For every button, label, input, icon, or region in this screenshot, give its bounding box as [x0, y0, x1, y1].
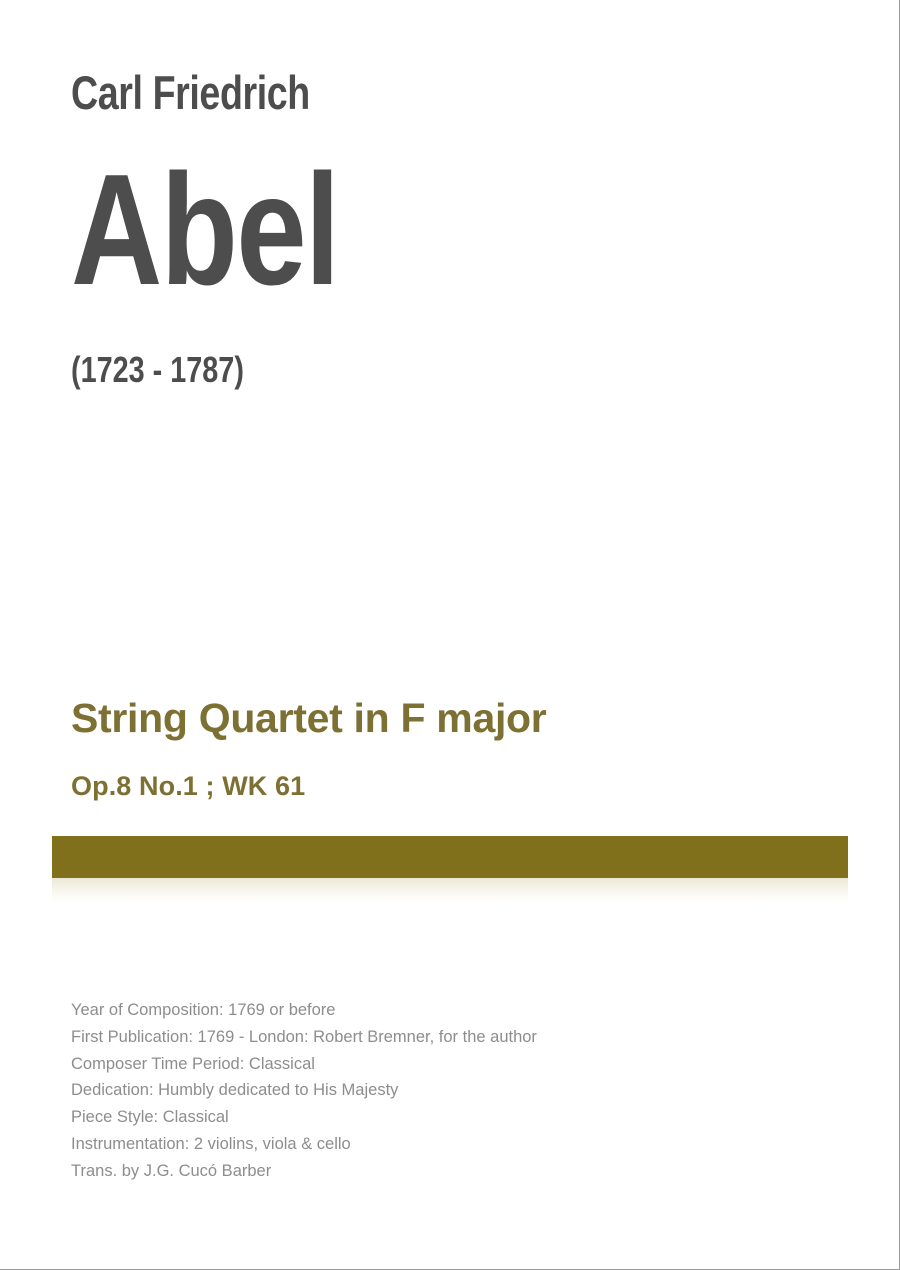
metadata-line: Instrumentation: 2 violins, viola & cell… [71, 1131, 831, 1158]
divider-reflection [52, 878, 848, 904]
composer-life-dates: (1723 - 1787) [71, 351, 679, 389]
work-opus-subtitle: Op.8 No.1 ; WK 61 [71, 771, 851, 801]
work-title: String Quartet in F major [71, 696, 851, 742]
metadata-line: Trans. by J.G. Cucó Barber [71, 1158, 831, 1185]
metadata-block: Year of Composition: 1769 or before Firs… [71, 997, 831, 1185]
work-title-block: String Quartet in F major Op.8 No.1 ; WK… [71, 696, 851, 801]
metadata-line: Composer Time Period: Classical [71, 1051, 831, 1078]
metadata-line: Piece Style: Classical [71, 1104, 831, 1131]
title-divider [52, 836, 848, 908]
metadata-line: Dedication: Humbly dedicated to His Maje… [71, 1077, 831, 1104]
metadata-line: Year of Composition: 1769 or before [71, 997, 831, 1024]
divider-bar [52, 836, 848, 878]
score-cover-page: Carl Friedrich Abel (1723 - 1787) String… [0, 0, 900, 1270]
composer-last-name: Abel [71, 151, 679, 309]
composer-first-name: Carl Friedrich [71, 68, 679, 117]
composer-name-block: Carl Friedrich Abel (1723 - 1787) [71, 68, 831, 389]
metadata-line: First Publication: 1769 - London: Robert… [71, 1024, 831, 1051]
